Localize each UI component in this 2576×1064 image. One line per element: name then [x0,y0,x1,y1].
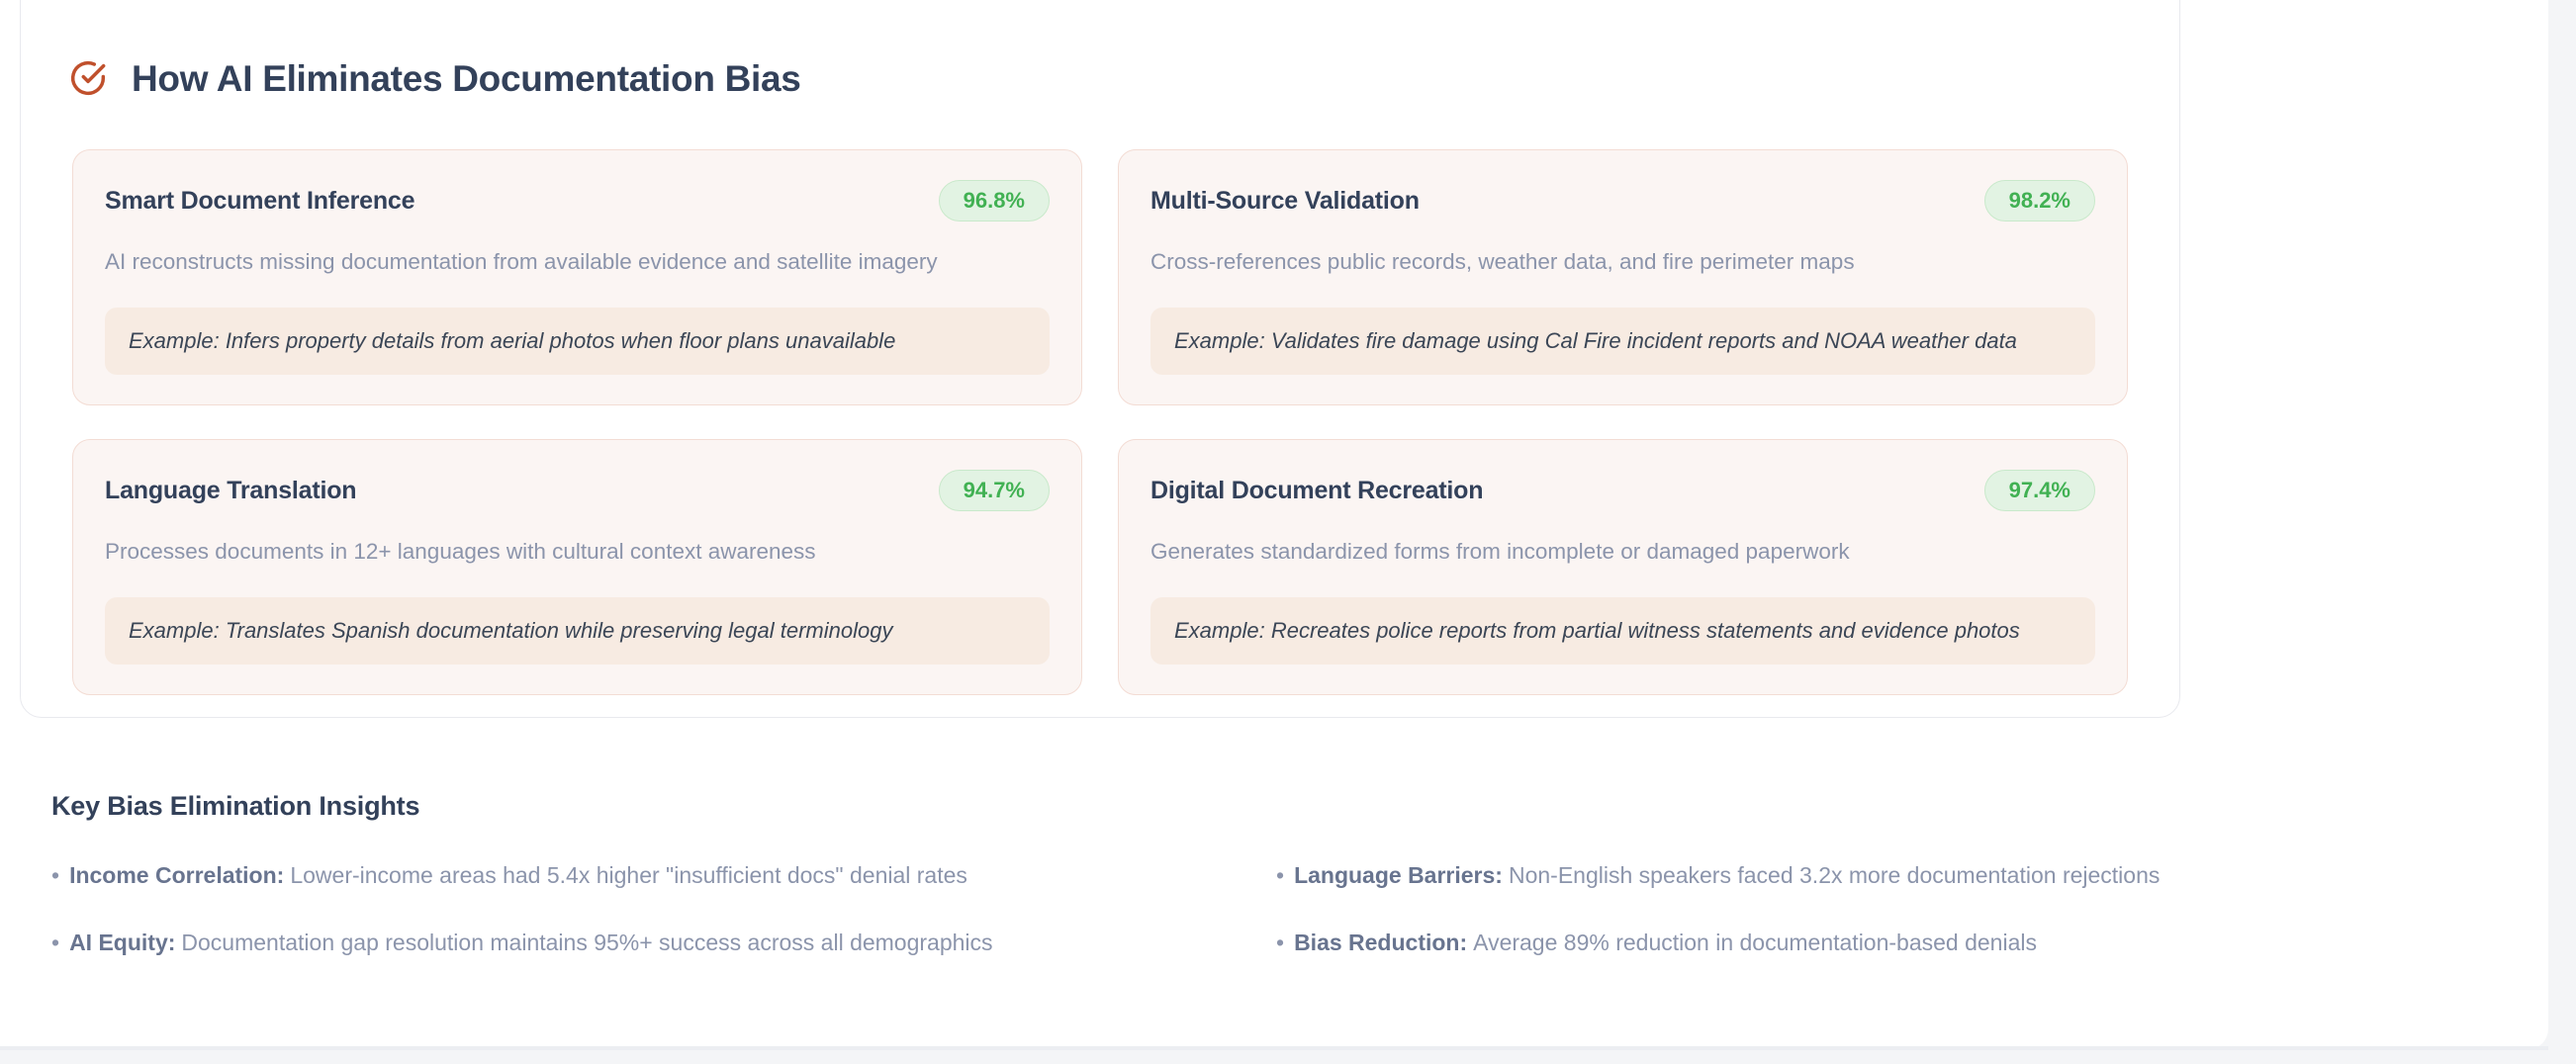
insight-label: Income Correlation: [69,862,284,888]
feature-title: Multi-Source Validation [1150,187,1420,216]
feature-title: Language Translation [105,477,356,505]
feature-card-header: Multi-Source Validation 98.2% [1150,180,2095,222]
feature-description: Processes documents in 12+ languages wit… [105,537,1050,567]
feature-card[interactable]: Smart Document Inference 96.8% AI recons… [72,149,1082,405]
feature-example-text: Example: Translates Spanish documentatio… [129,617,1026,646]
insights-title: Key Bias Elimination Insights [51,791,2445,822]
feature-title: Smart Document Inference [105,187,414,216]
insight-label: AI Equity: [69,930,175,955]
feature-example-text: Example: Infers property details from ae… [129,327,1026,356]
feature-card-header: Smart Document Inference 96.8% [105,180,1050,222]
feature-description: Cross-references public records, weather… [1150,247,2095,277]
feature-grid: Smart Document Inference 96.8% AI recons… [21,98,2179,695]
feature-card[interactable]: Digital Document Recreation 97.4% Genera… [1118,439,2128,695]
feature-description: AI reconstructs missing documentation fr… [105,247,1050,277]
insight-item: • AI Equity:Documentation gap resolution… [51,927,1221,958]
feature-example-text: Example: Recreates police reports from p… [1174,617,2071,646]
circle-check-icon [68,58,108,98]
feature-example-box: Example: Translates Spanish documentatio… [105,597,1050,665]
feature-title: Digital Document Recreation [1150,477,1483,505]
feature-card[interactable]: Language Translation 94.7% Processes doc… [72,439,1082,695]
feature-card[interactable]: Multi-Source Validation 98.2% Cross-refe… [1118,149,2128,405]
key-insights-section: Key Bias Elimination Insights • Income C… [51,791,2445,958]
feature-example-box: Example: Recreates police reports from p… [1150,597,2095,665]
documentation-bias-panel: How AI Eliminates Documentation Bias Sma… [20,0,2180,718]
accuracy-badge: 97.4% [1984,470,2095,511]
insight-item: • Language Barriers:Non-English speakers… [1276,859,2445,891]
scrollbar-gutter[interactable] [2548,0,2576,1064]
insight-body: Average 89% reduction in documentation-b… [1473,930,2037,955]
accuracy-badge: 96.8% [939,180,1050,222]
feature-card-header: Digital Document Recreation 97.4% [1150,470,2095,511]
page-root: How AI Eliminates Documentation Bias Sma… [0,0,2576,1064]
accuracy-badge: 98.2% [1984,180,2095,222]
insight-body: Non-English speakers faced 3.2x more doc… [1509,862,2160,888]
insight-body: Documentation gap resolution maintains 9… [181,930,992,955]
insight-label: Language Barriers: [1294,862,1503,888]
insight-item: • Bias Reduction:Average 89% reduction i… [1276,927,2445,958]
insight-item: • Income Correlation:Lower-income areas … [51,859,1221,891]
insight-body: Lower-income areas had 5.4x higher "insu… [290,862,967,888]
insights-grid: • Income Correlation:Lower-income areas … [51,859,2445,958]
feature-card-header: Language Translation 94.7% [105,470,1050,511]
page-sheet: How AI Eliminates Documentation Bias Sma… [0,0,2548,1050]
feature-example-text: Example: Validates fire damage using Cal… [1174,327,2071,356]
bullet-icon: • [51,931,59,954]
insight-label: Bias Reduction: [1294,930,1467,955]
feature-description: Generates standardized forms from incomp… [1150,537,2095,567]
bullet-icon: • [1276,864,1284,887]
panel-header: How AI Eliminates Documentation Bias [21,0,2179,98]
sheet-bottom-edge [0,1046,2548,1050]
page-title: How AI Eliminates Documentation Bias [132,60,801,97]
feature-example-box: Example: Validates fire damage using Cal… [1150,308,2095,376]
bullet-icon: • [51,864,59,887]
bullet-icon: • [1276,931,1284,954]
accuracy-badge: 94.7% [939,470,1050,511]
feature-example-box: Example: Infers property details from ae… [105,308,1050,376]
